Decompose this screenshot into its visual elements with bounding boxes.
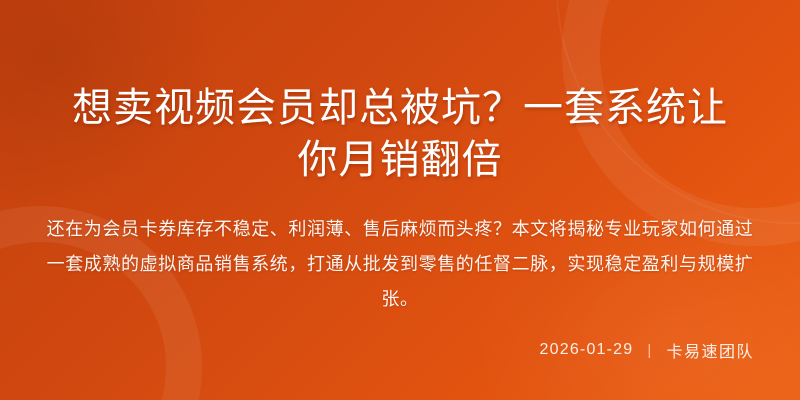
meta-separator: |: [647, 342, 652, 359]
banner-subtitle: 还在为会员卡券库存不稳定、利润薄、售后麻烦而头疼？本文将揭秘专业玩家如何通过一套…: [0, 186, 800, 317]
author-name: 卡易速团队: [666, 338, 754, 362]
publish-date: 2026-01-29: [540, 341, 634, 359]
content-spacer: [0, 317, 800, 338]
banner-meta: 2026-01-29 | 卡易速团队: [0, 338, 800, 400]
article-cover-banner: 想卖视频会员却总被坑？一套系统让你月销翻倍 还在为会员卡券库存不稳定、利润薄、售…: [0, 0, 800, 400]
banner-content: 想卖视频会员却总被坑？一套系统让你月销翻倍 还在为会员卡券库存不稳定、利润薄、售…: [0, 0, 800, 400]
banner-title: 想卖视频会员却总被坑？一套系统让你月销翻倍: [0, 0, 800, 186]
